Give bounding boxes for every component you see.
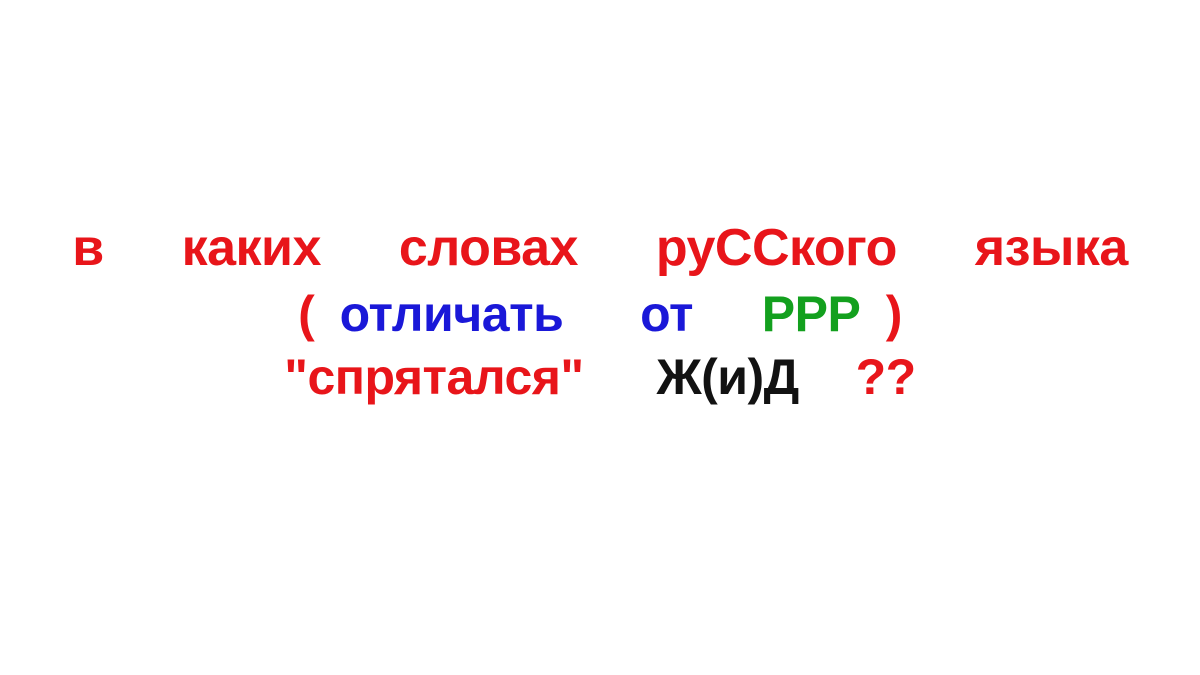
- text-block: в каких словах руССкого языка ( отличать…: [0, 222, 1200, 402]
- word-zhid: Ж(и)Д: [656, 349, 798, 405]
- word-ot: от: [640, 286, 693, 342]
- paren-close: ): [886, 286, 902, 342]
- word-slovah: словах: [399, 219, 578, 277]
- word-v: в: [72, 219, 103, 277]
- question-marks: ??: [856, 349, 916, 405]
- word-yazyka: языка: [975, 219, 1128, 277]
- word-spryatalsya-quoted: "спрятался": [284, 349, 583, 405]
- slide-canvas: в каких словах руССкого языка ( отличать…: [0, 0, 1200, 675]
- text-line-2: ( отличать от РРР ): [0, 289, 1200, 339]
- word-otlichat: отличать: [340, 286, 564, 342]
- word-kakih: каких: [182, 219, 321, 277]
- word-rrr: РРР: [762, 286, 861, 342]
- word-russkogo: руССкого: [656, 219, 897, 277]
- text-line-3: "спрятался" Ж(и)Д ??: [0, 352, 1200, 402]
- paren-open: (: [298, 286, 314, 342]
- text-line-1: в каких словах руССкого языка: [0, 222, 1200, 274]
